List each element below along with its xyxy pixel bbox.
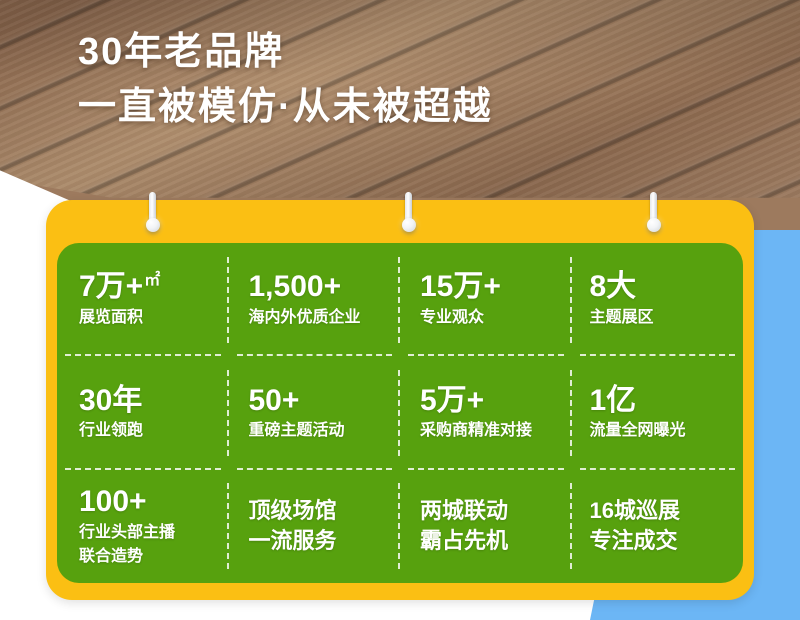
stat-cell-1: 7万+㎡ 展览面积 [57,243,229,356]
stats-grid: 7万+㎡ 展览面积 1,500+ 海内外优质企业 15万+ 专业观众 8大 主题… [57,243,743,583]
pin-ball-icon [647,218,661,232]
stat-cell-3: 15万+ 专业观众 [400,243,572,356]
stat-cell-12: 16城巡展 专注成交 [572,470,744,583]
stat-cell-5: 30年 行业领跑 [57,356,229,469]
stat-value: 30年 [79,385,221,417]
stat-label: 采购商精准对接 [420,421,564,441]
pin-ball-icon [402,218,416,232]
stat-value: 15万+ [420,271,564,303]
stat-value: 16城巡展 [590,497,736,526]
stat-label: 行业领跑 [79,421,221,441]
stat-value: 8大 [590,271,736,303]
stat-label: 流量全网曝光 [590,421,736,441]
green-stats-card: 7万+㎡ 展览面积 1,500+ 海内外优质企业 15万+ 专业观众 8大 主题… [57,243,743,583]
stat-label: 主题展区 [590,308,736,328]
page-title: 30年老品牌 一直被模仿·从未被超越 [78,28,738,131]
stat-value: 1,500+ [249,271,393,303]
stat-label-2: 霸占先机 [420,527,564,556]
headline-line-2: 一直被模仿·从未被超越 [78,83,738,132]
poster-canvas: 30年老品牌 一直被模仿·从未被超越 7万+㎡ 展览面积 1,500+ 海内外优… [0,0,800,620]
stat-cell-11: 两城联动 霸占先机 [400,470,572,583]
stat-label: 海内外优质企业 [249,308,393,328]
stat-value: 5万+ [420,385,564,417]
stat-label: 行业头部主播 [79,523,221,543]
stat-cell-6: 50+ 重磅主题活动 [229,356,401,469]
stat-cell-7: 5万+ 采购商精准对接 [400,356,572,469]
stat-label: 展览面积 [79,308,221,328]
stat-unit: ㎡ [144,272,160,289]
stat-label: 重磅主题活动 [249,421,393,441]
stat-value: 1亿 [590,385,736,417]
stat-value: 7万+㎡ [79,271,221,303]
stat-label: 专注成交 [590,527,736,556]
stat-label: 两城联动 [420,497,564,526]
stat-cell-2: 1,500+ 海内外优质企业 [229,243,401,356]
stat-cell-8: 1亿 流量全网曝光 [572,356,744,469]
stat-label-2: 联合造势 [79,547,221,567]
stat-cell-9: 100+ 行业头部主播 联合造势 [57,470,229,583]
stat-cell-4: 8大 主题展区 [572,243,744,356]
stat-value: 50+ [249,385,393,417]
stat-label: 顶级场馆 [249,497,393,526]
stat-cell-10: 顶级场馆 一流服务 [229,470,401,583]
stat-label-2: 一流服务 [249,527,393,556]
stat-label: 专业观众 [420,308,564,328]
pin-ball-icon [146,218,160,232]
headline-line-1: 30年老品牌 [78,28,738,77]
stat-value: 100+ [79,486,221,518]
